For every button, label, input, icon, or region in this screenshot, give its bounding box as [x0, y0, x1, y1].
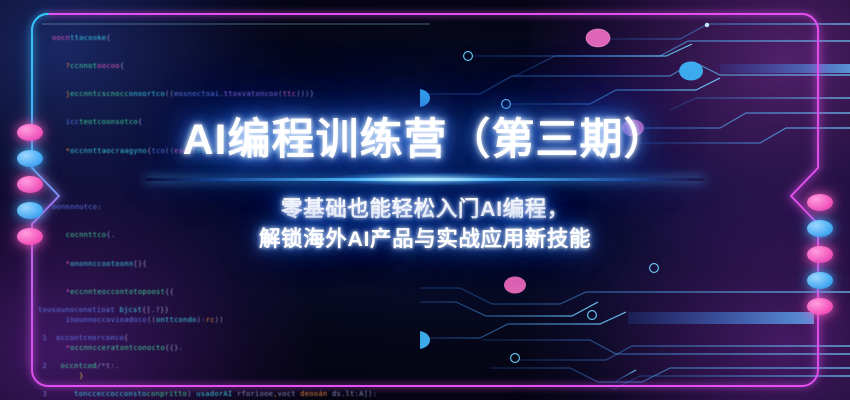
decor-dot — [807, 298, 833, 315]
subtitle: 零基础也能轻松入门AI编程， 解锁海外AI产品与实战应用新技能 — [0, 194, 850, 255]
decorative-code-bottom: tousounoconotioat bjcst{[.?}} 1 occontcn… — [38, 286, 377, 400]
decor-dot — [807, 272, 833, 289]
page-title: AI编程训练营（第三期） — [0, 118, 850, 164]
subtitle-line-1: 零基础也能轻松入门AI编程， — [281, 197, 569, 221]
headline-block: AI编程训练营（第三期） 零基础也能轻松入门AI编程， 解锁海外AI产品与实战应… — [0, 118, 850, 255]
promo-banner: oocnttacooke{ ?ccnnotoocoo{ jeccnntcscno… — [0, 0, 850, 400]
light-beam-divider — [145, 178, 705, 181]
circuit-traces-bottom-right — [420, 250, 850, 400]
subtitle-line-2: 解锁海外AI产品与实战应用新技能 — [0, 224, 850, 255]
